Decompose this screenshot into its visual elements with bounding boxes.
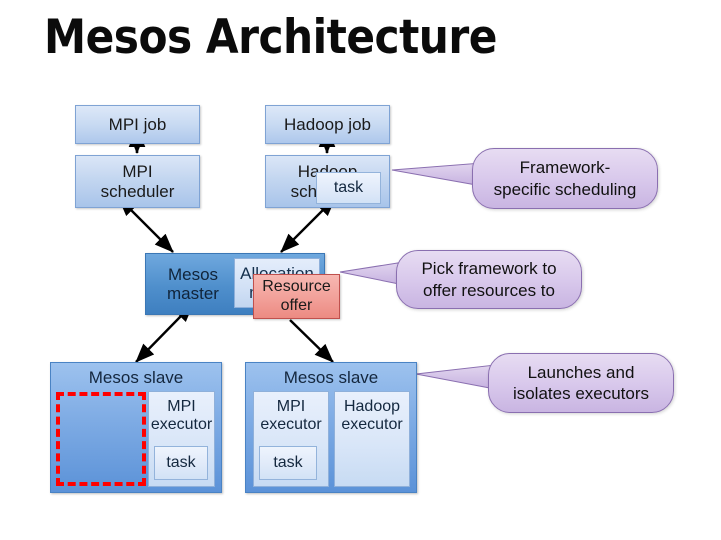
mpi-scheduler-box[interactable]: MPI scheduler: [75, 155, 200, 208]
free-resources-highlight: [56, 392, 146, 486]
arrow-master-slave-right: [290, 320, 333, 362]
resource-offer-label: Resource offer: [262, 278, 330, 315]
page-title: Mesos Architecture: [44, 12, 497, 64]
mesos-slave-left-mpi-executor-label: MPI executor: [149, 398, 214, 434]
arrow-hadoop-scheduler-master: [281, 210, 323, 252]
mesos-slave-right-mpi-task-label: task: [273, 454, 302, 472]
callout-tail-pick-framework: [340, 262, 404, 285]
mesos-slave-right-hadoop-executor-box[interactable]: Hadoop executor: [334, 391, 410, 487]
mesos-slave-right-hadoop-executor-label: Hadoop executor: [335, 398, 409, 434]
callout-launches-isolates-text: Launches and isolates executors: [503, 362, 659, 405]
hadoop-scheduler-task-label: task: [334, 179, 363, 197]
callout-pick-framework: Pick framework to offer resources to: [396, 250, 582, 309]
mesos-master-label: Mesos master: [146, 265, 236, 303]
mpi-job-box[interactable]: MPI job: [75, 105, 200, 144]
mpi-scheduler-label: MPI scheduler: [101, 162, 175, 200]
mesos-slave-right-mpi-executor-label: MPI executor: [254, 398, 328, 434]
arrow-master-slave-left: [136, 316, 181, 362]
mesos-slave-left-mpi-task-box[interactable]: task: [154, 446, 208, 480]
resource-offer-box[interactable]: Resource offer: [253, 274, 340, 319]
callout-tail-framework: [392, 163, 482, 186]
hadoop-job-label: Hadoop job: [284, 115, 371, 134]
callout-pick-framework-text: Pick framework to offer resources to: [411, 258, 566, 301]
callout-launches-isolates: Launches and isolates executors: [488, 353, 674, 413]
mesos-slave-left-mpi-task-label: task: [166, 454, 195, 472]
mesos-slave-right-mpi-task-box[interactable]: task: [259, 446, 317, 480]
callout-framework-specific-scheduling: Framework- specific scheduling: [472, 148, 658, 209]
arrow-mpi-scheduler-master: [131, 210, 173, 252]
mpi-job-label: MPI job: [109, 115, 167, 134]
hadoop-scheduler-task-box[interactable]: task: [316, 172, 381, 204]
mesos-slave-left-title: Mesos slave: [51, 368, 221, 388]
callout-tail-launches: [416, 365, 495, 389]
callout-framework-specific-scheduling-text: Framework- specific scheduling: [484, 157, 647, 200]
mesos-slave-right-title: Mesos slave: [246, 368, 416, 388]
hadoop-job-box[interactable]: Hadoop job: [265, 105, 390, 144]
